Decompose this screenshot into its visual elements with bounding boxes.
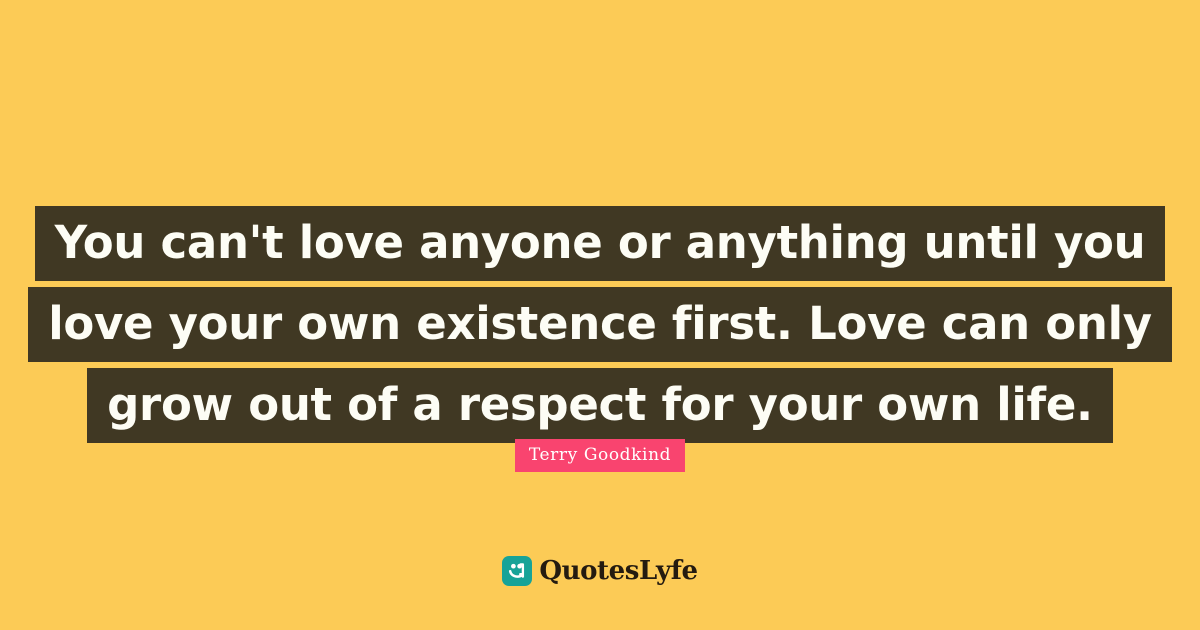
brand-name: QuotesLyfe [539,558,697,584]
quote-line: grow out of a respect for your own life. [87,368,1113,443]
author-name-badge: Terry Goodkind [515,439,685,472]
quote-line: love your own existence first. Love can … [28,287,1172,362]
author-attribution: Terry Goodkind [0,439,1200,472]
quote-card: You can't love anyone or anything until … [0,0,1200,630]
quote-text-block: You can't love anyone or anything until … [0,206,1200,443]
brand-logo: QuotesLyfe [0,556,1200,586]
quote-smiley-icon [502,556,532,586]
quote-line: You can't love anyone or anything until … [35,206,1166,281]
